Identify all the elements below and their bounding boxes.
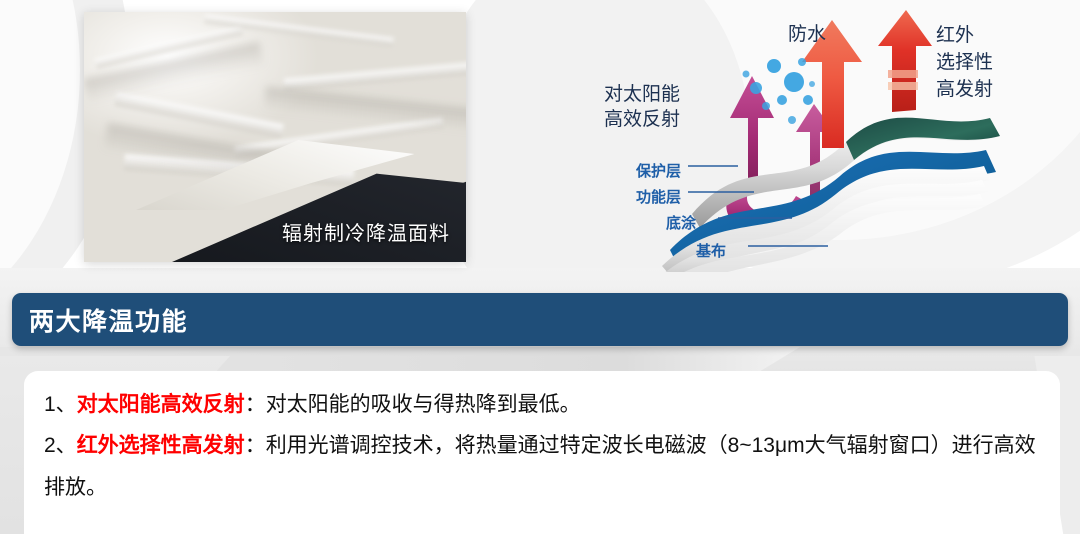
label-infrared-emission: 红外 选择性 高发射 xyxy=(936,22,993,103)
layer-label-functional: 功能层 xyxy=(636,186,681,207)
bullet-2-separator: ： xyxy=(245,434,266,457)
label-solar-reflection: 对太阳能 高效反射 xyxy=(604,82,680,132)
label-waterproof: 防水 xyxy=(788,22,826,47)
fabric-fold xyxy=(284,61,466,90)
layer-label-base-coat: 底涂 xyxy=(666,212,696,233)
radiative-cooling-fabric-photo: 辐射制冷降温面料 xyxy=(84,12,466,262)
fabric-shadow xyxy=(263,87,466,134)
bullet-2-keyword: 红外选择性高发射 xyxy=(77,434,245,457)
bullet-1-separator: ： xyxy=(245,393,266,416)
infrared-emission-arrow-2 xyxy=(878,10,932,112)
bullet-1-keyword: 对太阳能高效反射 xyxy=(77,393,245,416)
photo-caption: 辐射制冷降温面料 xyxy=(282,217,450,246)
section-title-text: 两大降温功能 xyxy=(29,302,188,338)
content-card: 1、对太阳能高效反射：对太阳能的吸收与得热降到最低。 2、红外选择性高发射：利用… xyxy=(24,371,1060,549)
bullet-2-number: 2、 xyxy=(44,434,77,457)
layer-label-protective: 保护层 xyxy=(636,160,681,181)
bullet-1-body: 对太阳能的吸收与得热降到最低。 xyxy=(266,393,581,416)
fabric-shadow xyxy=(84,42,265,105)
section-title-bar: 两大降温功能 xyxy=(12,293,1068,346)
bullet-item-1: 1、对太阳能高效反射：对太阳能的吸收与得热降到最低。 xyxy=(44,385,1040,425)
fabric-layer-diagram: 对太阳能 高效反射 防水 红外 选择性 高发射 保护层 功能层 底涂 基布 xyxy=(596,0,1080,272)
bullet-item-2: 2、红外选择性高发射：利用光谱调控技术，将热量通过特定波长电磁波（8~13μm大… xyxy=(44,425,1040,509)
bullet-1-number: 1、 xyxy=(44,393,77,416)
layer-label-base-fabric: 基布 xyxy=(696,240,726,261)
